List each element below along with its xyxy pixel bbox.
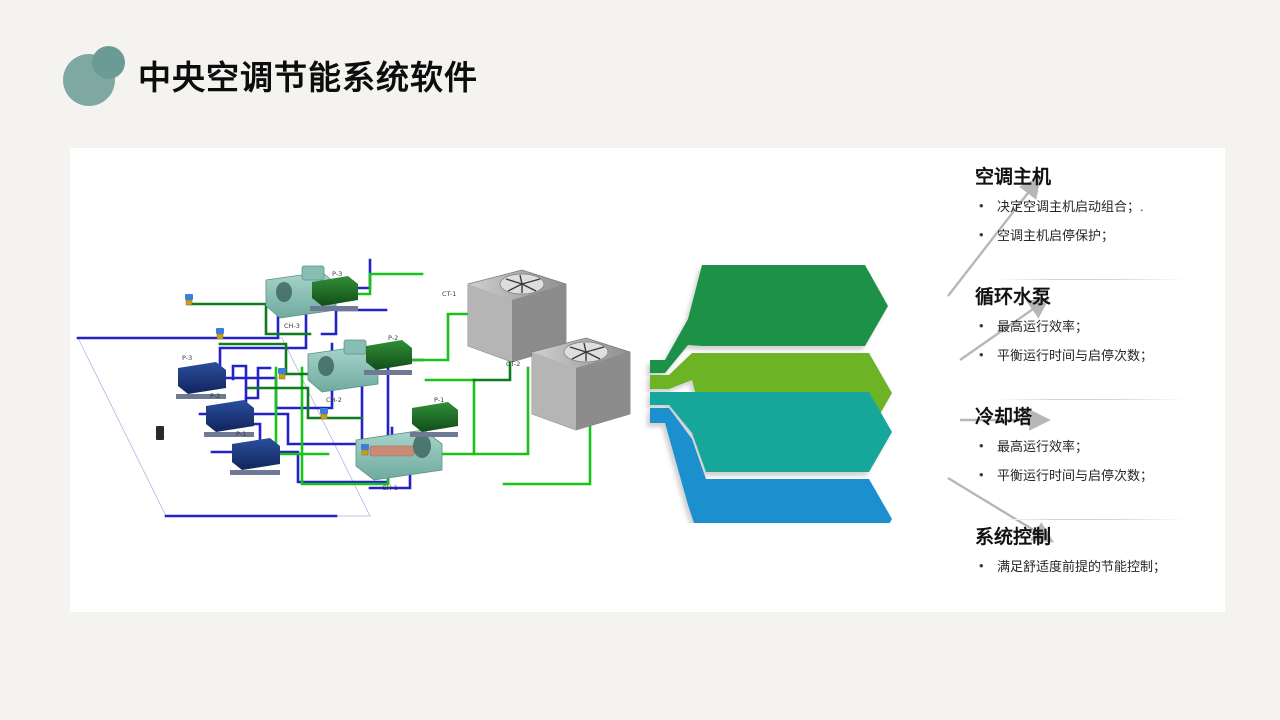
bullet-list-chiller: •决定空调主机启动组合；. •空调主机启停保护；	[975, 199, 1225, 244]
svg-text:P-3: P-3	[182, 354, 192, 362]
list-item: •最高运行效率；	[975, 439, 1225, 455]
bullet-marker-icon: •	[979, 198, 984, 214]
process-flow-bands	[570, 253, 900, 523]
svg-text:CH-1: CH-1	[382, 484, 398, 492]
svg-text:CT-1: CT-1	[442, 290, 456, 298]
bullet-text: 满足舒适度前提的节能控制；	[997, 559, 1166, 574]
bullet-text: 最高运行效率；	[997, 439, 1088, 454]
slide-root: 中央空调节能系统软件	[0, 0, 1280, 720]
svg-text:CT-2: CT-2	[506, 360, 520, 368]
list-item: •空调主机启停保护；	[975, 228, 1225, 244]
section-title-tower: 冷却塔	[975, 406, 1225, 430]
bullet-marker-icon: •	[979, 347, 984, 363]
bullet-text: 平衡运行时间与启停次数；	[997, 468, 1153, 483]
list-item: •决定空调主机启动组合；.	[975, 199, 1225, 215]
brand-logo-icon	[63, 46, 125, 106]
pump-blue-p1: P-1	[230, 430, 280, 475]
svg-text:CH-3: CH-3	[284, 322, 300, 330]
svg-text:P-2: P-2	[388, 334, 398, 342]
section-system: 系统控制 •满足舒适度前提的节能控制；	[975, 526, 1225, 588]
bullet-marker-icon: •	[979, 558, 984, 574]
sensor-icon	[156, 426, 164, 440]
svg-text:P-3: P-3	[332, 270, 342, 278]
section-divider	[997, 399, 1187, 400]
logo-circle-small	[92, 46, 125, 79]
section-pump: 循环水泵 •最高运行效率； •平衡运行时间与启停次数；	[975, 286, 1225, 377]
bullet-text: 空调主机启停保护；	[997, 228, 1114, 243]
section-chiller: 空调主机 •决定空调主机启动组合；. •空调主机启停保护；	[975, 166, 1225, 257]
section-divider	[997, 519, 1187, 520]
svg-text:P-2: P-2	[210, 392, 220, 400]
section-title-pump: 循环水泵	[975, 286, 1225, 310]
svg-text:P-1: P-1	[236, 430, 246, 438]
list-item: •平衡运行时间与启停次数；	[975, 348, 1225, 364]
bullet-text: 平衡运行时间与启停次数；	[997, 348, 1153, 363]
content-card: CH-3 CH-2 CH-1 P-3	[70, 148, 1225, 612]
bullet-list-pump: •最高运行效率； •平衡运行时间与启停次数；	[975, 319, 1225, 364]
list-item: •最高运行效率；	[975, 319, 1225, 335]
bullet-marker-icon: •	[979, 227, 984, 243]
sections-column: 空调主机 •决定空调主机启动组合；. •空调主机启停保护； 循环水泵 •最高运行…	[975, 148, 1225, 612]
list-item: •满足舒适度前提的节能控制；	[975, 559, 1225, 575]
bullet-text: 决定空调主机启动组合；.	[997, 199, 1144, 214]
section-title-chiller: 空调主机	[975, 166, 1225, 190]
section-title-system: 系统控制	[975, 526, 1225, 550]
svg-text:CH-2: CH-2	[326, 396, 342, 404]
svg-text:P-1: P-1	[434, 396, 444, 404]
bullet-list-system: •满足舒适度前提的节能控制；	[975, 559, 1225, 575]
bullet-marker-icon: •	[979, 467, 984, 483]
bullet-marker-icon: •	[979, 318, 984, 334]
page-title: 中央空调节能系统软件	[138, 57, 478, 99]
section-divider	[997, 279, 1187, 280]
hvac-plant-diagram: CH-3 CH-2 CH-1 P-3	[70, 248, 650, 578]
list-item: •平衡运行时间与启停次数；	[975, 468, 1225, 484]
bullet-marker-icon: •	[979, 438, 984, 454]
bullet-list-tower: •最高运行效率； •平衡运行时间与启停次数；	[975, 439, 1225, 484]
section-tower: 冷却塔 •最高运行效率； •平衡运行时间与启停次数；	[975, 406, 1225, 497]
slide-header: 中央空调节能系统软件	[0, 0, 1280, 140]
bullet-text: 最高运行效率；	[997, 319, 1088, 334]
